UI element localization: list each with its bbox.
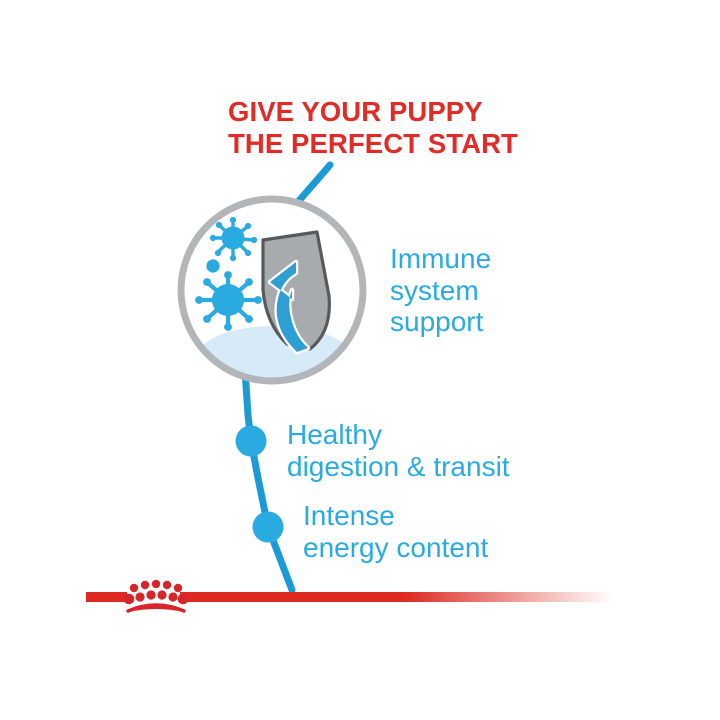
footer-layer xyxy=(0,0,720,720)
infographic-canvas: GIVE YOUR PUPPY THE PERFECT START xyxy=(0,0,720,720)
royal-canin-crown-logo xyxy=(124,580,189,612)
footer-rule-right xyxy=(180,592,612,602)
footer-rule-left xyxy=(86,592,127,602)
